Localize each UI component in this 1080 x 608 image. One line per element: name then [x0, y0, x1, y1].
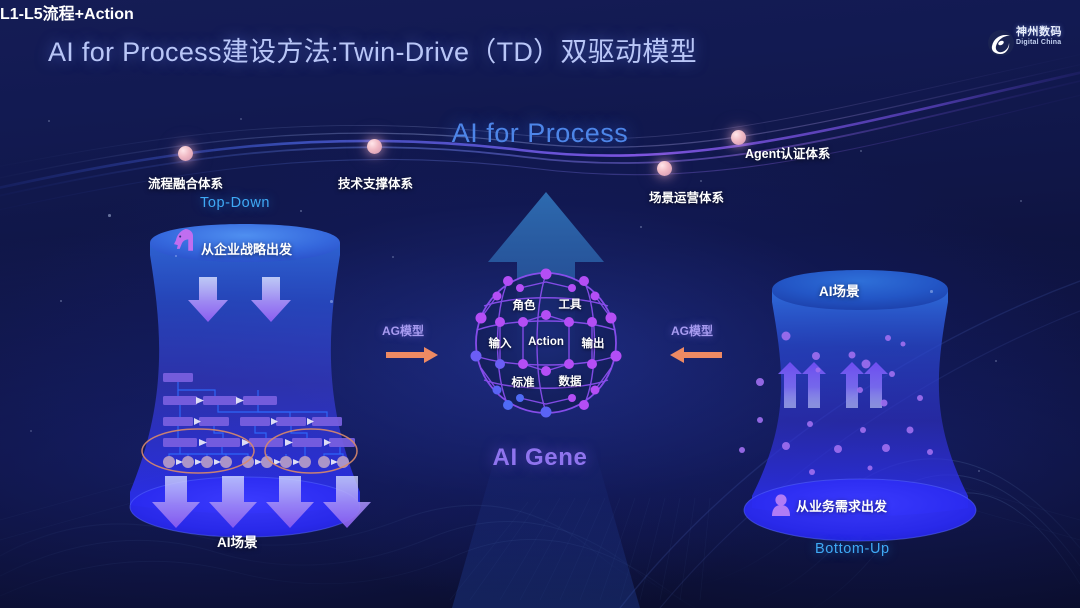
gene-cell-1: 工具 — [559, 296, 582, 312]
wave-node-3 — [657, 161, 672, 176]
logo-text-en: Digital China — [1016, 39, 1062, 46]
ag-label-left: AG模型 — [382, 322, 424, 339]
wave-label-2: 技术支撑体系 — [338, 173, 413, 192]
user-person-icon — [772, 494, 790, 516]
wave-label-3: 场景运营体系 — [649, 187, 724, 206]
wave-node-2 — [367, 139, 382, 154]
page-title: AI for Process建设方法:Twin-Drive（TD）双驱动模型 — [48, 30, 697, 69]
gene-cell-2: 输入 — [489, 335, 512, 351]
logo-text-cn: 神州数码 — [1016, 27, 1062, 39]
wave-node-4 — [731, 130, 746, 145]
ag-arrow-right-to-center — [670, 347, 722, 363]
wave-label-1: 流程融合体系 — [148, 173, 223, 192]
left-funnel-down-arrows-upper — [188, 277, 291, 322]
slide-header: AI for Process建设方法:Twin-Drive（TD）双驱动模型 神… — [0, 0, 1080, 92]
slide-canvas: AI for Process建设方法:Twin-Drive（TD）双驱动模型 神… — [0, 0, 1080, 608]
wave-label-4: Agent认证体系 — [745, 143, 830, 162]
right-direction-label: Bottom-Up — [815, 541, 890, 557]
gene-cell-5: 标准 — [512, 374, 535, 390]
center-heading: AI for Process — [0, 118, 1080, 149]
left-funnel-shape — [130, 224, 360, 537]
ag-label-right: AG模型 — [671, 322, 713, 339]
left-cap-label: 从企业战略出发 — [201, 239, 292, 258]
right-cap-label: AI场景 — [819, 280, 860, 300]
gene-cell-4: 输出 — [582, 335, 605, 351]
left-funnel-down-arrows-lower — [152, 476, 371, 528]
left-pill-label: L1-L5流程+Action — [0, 0, 134, 24]
right-bottom-label: 从业务需求出发 — [796, 496, 887, 515]
gene-cell-6: 数据 — [559, 373, 582, 389]
gene-cell-3: Action — [528, 336, 564, 348]
left-direction-label: Top-Down — [200, 195, 270, 211]
ag-arrow-left-to-center — [386, 347, 438, 363]
wave-node-1 — [178, 146, 193, 161]
chess-knight-icon — [174, 229, 193, 251]
right-funnel-up-arrows — [778, 362, 888, 408]
gene-cell-0: 角色 — [513, 297, 536, 313]
ai-gene-label: AI Gene — [0, 444, 1080, 472]
left-bottom-label: AI场景 — [217, 531, 258, 551]
brand-logo: 神州数码 Digital China — [1016, 27, 1062, 46]
